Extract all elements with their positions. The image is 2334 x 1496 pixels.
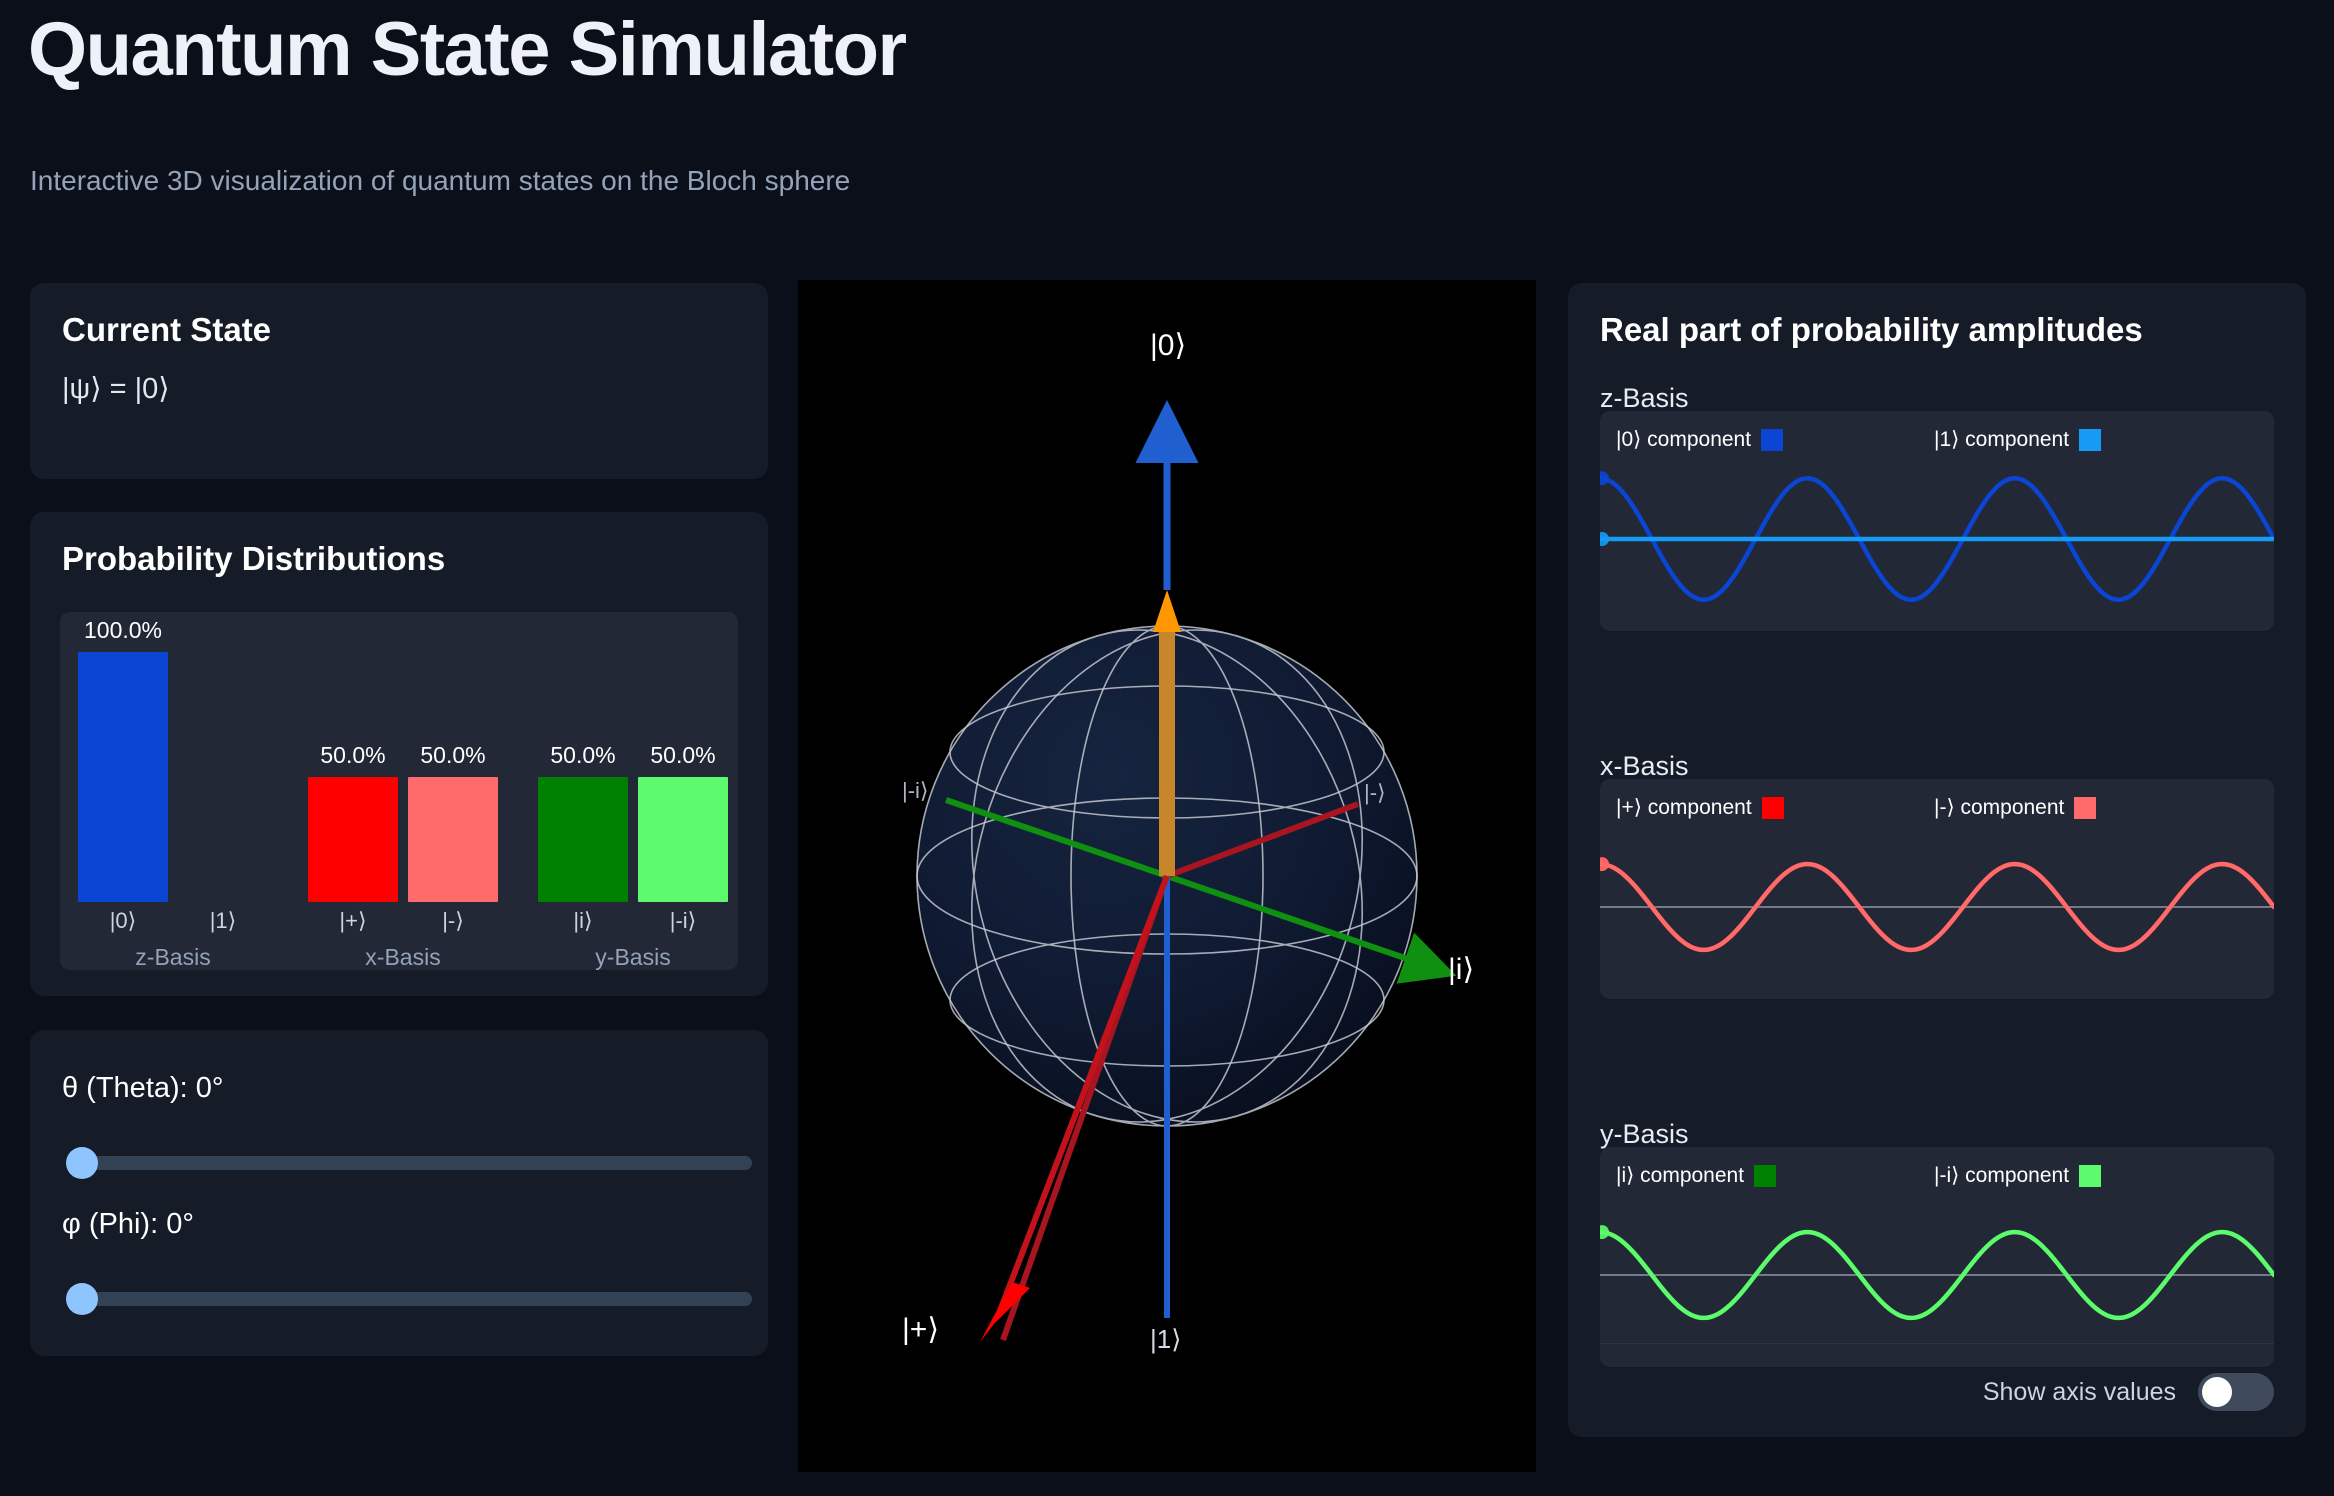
bloch-x-axis-overlay (798, 280, 1536, 1472)
probability-bar-tick: |1⟩ (178, 908, 268, 934)
wave-panel-y-basis: |i⟩ component|-i⟩ component (1600, 1147, 2274, 1367)
wave-panel-z-basis: |0⟩ component|1⟩ component (1600, 411, 2274, 631)
current-state-title: Current State (62, 311, 271, 349)
current-state-expression: |ψ⟩ = |0⟩ (62, 371, 170, 406)
bloch-label-y-negative: |-i⟩ (902, 778, 929, 804)
wave-panel-x-basis: |+⟩ component|-⟩ component (1600, 779, 2274, 999)
wave-section-label-z-basis: z-Basis (1600, 383, 1689, 414)
theta-slider-label: θ (Theta): 0° (62, 1072, 224, 1105)
theta-slider-thumb[interactable] (66, 1147, 98, 1179)
probability-bar-value: 50.0% (650, 742, 715, 769)
phi-slider-track[interactable] (82, 1292, 752, 1306)
theta-slider-track[interactable] (82, 1156, 752, 1170)
show-axis-values-row[interactable]: Show axis values (1983, 1373, 2274, 1411)
probability-bar-value: 100.0% (84, 617, 162, 644)
probability-bar-value: 50.0% (420, 742, 485, 769)
probability-chart: 100.0%50.0%50.0%50.0%50.0% |0⟩|1⟩|+⟩|-⟩|… (60, 612, 738, 970)
phi-slider-label: φ (Phi): 0° (62, 1208, 194, 1241)
show-axis-values-label: Show axis values (1983, 1378, 2176, 1407)
probability-bar-group (178, 612, 268, 902)
wave-start-marker (1600, 1225, 1609, 1239)
probability-bar-tick: |i⟩ (538, 908, 628, 934)
wave-start-marker (1600, 532, 1609, 546)
probability-bar-tick: |+⟩ (308, 908, 398, 934)
toggle-knob (2202, 1377, 2232, 1407)
probability-distributions-card: Probability Distributions 100.0%50.0%50.… (30, 512, 768, 996)
probability-bar-tick: |-⟩ (408, 908, 498, 934)
bloch-axis-x-line (998, 876, 1167, 1316)
show-axis-values-toggle[interactable] (2198, 1373, 2274, 1411)
amplitudes-divider (1600, 1343, 2274, 1344)
wave-plot-y-basis (1600, 1147, 2274, 1367)
page-subtitle: Interactive 3D visualization of quantum … (30, 165, 850, 197)
bloch-label-y-positive: |i⟩ (1448, 952, 1474, 987)
phi-slider-thumb[interactable] (66, 1283, 98, 1315)
wave-plot-z-basis (1600, 411, 2274, 631)
probability-bar (638, 777, 728, 902)
angle-controls-card: θ (Theta): 0° φ (Phi): 0° (30, 1030, 768, 1356)
probability-bar (408, 777, 498, 902)
probability-bar-group: 50.0% (538, 612, 628, 902)
probability-bar-area: 100.0%50.0%50.0%50.0%50.0% (60, 612, 738, 902)
probability-bar-value: 50.0% (320, 742, 385, 769)
probability-bar-group: 50.0% (408, 612, 498, 902)
page-title: Quantum State Simulator (28, 6, 906, 93)
probability-bar-tick: |-i⟩ (638, 908, 728, 934)
amplitudes-title: Real part of probability amplitudes (1600, 311, 2143, 349)
probability-bar-tick: |0⟩ (78, 908, 168, 934)
probability-bar-group: 50.0% (638, 612, 728, 902)
wave-section-label-y-basis: y-Basis (1600, 1119, 1689, 1150)
bloch-label-z-negative: |1⟩ (1150, 1324, 1181, 1355)
wave-section-label-x-basis: x-Basis (1600, 751, 1689, 782)
probability-basis-label: x-Basis (308, 944, 498, 971)
probability-title: Probability Distributions (62, 540, 445, 578)
wave-start-marker (1600, 857, 1609, 871)
probability-bar (308, 777, 398, 902)
probability-bar (78, 652, 168, 902)
app-root: Quantum State Simulator Interactive 3D v… (0, 0, 2334, 1496)
bloch-label-z-positive: |0⟩ (1150, 328, 1186, 363)
probability-basis-label: z-Basis (78, 944, 268, 971)
bloch-label-x-negative: |-⟩ (1364, 780, 1386, 806)
probability-bar-value: 50.0% (550, 742, 615, 769)
bloch-sphere-canvas[interactable]: |0⟩ |1⟩ |+⟩ |-⟩ |i⟩ |-i⟩ (798, 280, 1536, 1472)
wave-plot-x-basis (1600, 779, 2274, 999)
bloch-label-x-positive: |+⟩ (902, 1312, 939, 1347)
current-state-card: Current State |ψ⟩ = |0⟩ (30, 283, 768, 479)
probability-bar-group: 50.0% (308, 612, 398, 902)
amplitudes-card: Real part of probability amplitudes z-Ba… (1568, 283, 2306, 1437)
probability-basis-label: y-Basis (538, 944, 728, 971)
probability-bar (538, 777, 628, 902)
probability-bar-group: 100.0% (78, 612, 168, 902)
wave-start-marker (1600, 471, 1609, 485)
